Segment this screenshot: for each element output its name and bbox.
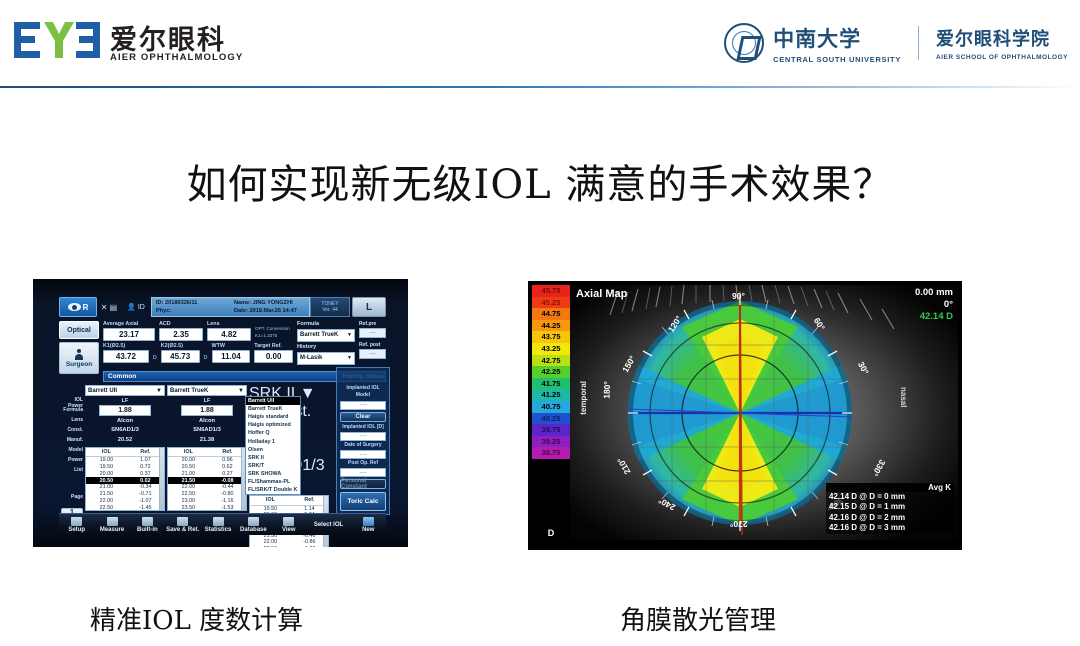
- field-acd[interactable]: ACD 2.35: [159, 321, 203, 341]
- column1-formula-select[interactable]: Barrett UII ▼: [85, 385, 165, 396]
- dropdown-option[interactable]: FL/Shammas-PL: [246, 478, 300, 486]
- ref-post-value[interactable]: ---: [359, 349, 386, 359]
- patient-phyc: Phyc:: [156, 307, 234, 315]
- formula-select[interactable]: Barrett TrueK ▼: [297, 329, 355, 342]
- toolbar-label: Measure: [100, 527, 124, 533]
- scale-step: 39.25: [532, 436, 570, 448]
- column1-const-label: LF: [85, 396, 165, 404]
- close-patient-button[interactable]: ✕ ▤: [97, 297, 121, 317]
- nasal-label: nasal: [899, 387, 908, 407]
- personal-constant-button[interactable]: Personal Constant: [340, 479, 386, 489]
- csu-text-block: 中南大学 CENTRAL SOUTH UNIVERSITY: [773, 23, 901, 64]
- scale-step: 44.75: [532, 308, 570, 320]
- history-label: History: [297, 344, 355, 352]
- csu-name-en: CENTRAL SOUTH UNIVERSITY: [773, 55, 901, 64]
- dropdown-option[interactable]: Barrett TrueK: [246, 405, 300, 413]
- opt-conversion-info: OPT. Conversion K1=1.3375: [255, 326, 290, 340]
- chevron-down-icon: ▼: [156, 388, 162, 394]
- dropdown-option[interactable]: Haigis optimized: [246, 421, 300, 429]
- field-value: 0.00: [254, 350, 293, 363]
- dropdown-option[interactable]: Haigis standard: [246, 413, 300, 421]
- surgeon-icon: [75, 349, 83, 360]
- eye-side-button[interactable]: R: [59, 297, 97, 317]
- biometry-row-2: K1(Ø2.5) 43.72 D K2(Ø2.5) 45.73 D WTW 11…: [103, 343, 293, 363]
- patient-bar: R ✕ ▤ 👤 ID ID: 20180326/11 Name: JING YO…: [59, 297, 386, 317]
- toolbar-label: Setup: [68, 527, 85, 533]
- column2-iol-table[interactable]: IOL Ref. 20.000.96 20.500.62 21.000.27 2…: [167, 447, 247, 511]
- patient-row-date: Phyc: Date: 2018.Mar.26 14:47: [156, 307, 305, 315]
- scale-step: 38.75: [532, 447, 570, 459]
- table-row[interactable]: 19.001.07: [86, 457, 164, 464]
- toolbar-label: Statistics: [205, 527, 232, 533]
- toolbar-label: Database: [240, 527, 267, 533]
- surgeon-button[interactable]: Surgeon: [59, 342, 99, 374]
- toolbar-new-button[interactable]: New: [351, 514, 386, 535]
- column2-model: SN6AD1/3: [167, 426, 247, 435]
- toolbar-statistics-button[interactable]: Statistics: [200, 514, 235, 535]
- surgery-date-value[interactable]: ----: [340, 450, 386, 459]
- postop-ref-label: Post Op. Ref: [340, 460, 386, 467]
- corneal-topography-screenshot: 45.75 45.25 44.75 44.25 43.75 43.25 42.7…: [528, 281, 962, 550]
- label-list: List: [59, 468, 83, 478]
- table-row-selected[interactable]: 20.500.02: [86, 477, 164, 484]
- iol-column-1: Barrett UII ▼ LF 1.88 Alcon SN6AD1/3 20.…: [85, 385, 165, 507]
- csu-seal-icon: [724, 23, 764, 63]
- ref-group: Ref.pre --- Ref. post ---: [359, 321, 386, 363]
- eye-diagram-button[interactable]: L: [352, 297, 386, 317]
- field-target-ref[interactable]: Target Ref. 0.00: [254, 343, 293, 363]
- implanted-power-label: Implanted IOL [D]: [340, 424, 386, 431]
- ref-pre-label: Ref.pre: [359, 321, 386, 328]
- column1-const-value[interactable]: 1.88: [99, 405, 151, 416]
- toolbar-measure-button[interactable]: Measure: [94, 514, 129, 535]
- chevron-down-icon: ▼: [347, 332, 352, 338]
- toolbar-builtin-button[interactable]: Built-in: [130, 514, 165, 535]
- chevron-down-icon: ▼: [347, 355, 352, 361]
- cursor-readout: 0.00 mm 0° 42.14 D: [915, 287, 953, 323]
- optical-mode-button[interactable]: Optical: [59, 321, 99, 339]
- field-average-axial[interactable]: Average Axial 23.17: [103, 321, 155, 341]
- scrollbar[interactable]: [159, 448, 164, 510]
- field-label: K1(Ø2.5): [103, 343, 149, 350]
- temporal-label: temporal: [579, 381, 588, 415]
- table-row[interactable]: 22.50-1.45: [86, 504, 164, 511]
- column2-formula-select[interactable]: Barrett TrueK ▼: [167, 385, 247, 396]
- scale-step: 40.25: [532, 413, 570, 425]
- ref-post-label: Ref. post: [359, 342, 386, 349]
- avg-k-row: 42.14 D @ D = 0 mm: [826, 492, 954, 503]
- scale-step: 43.25: [532, 343, 570, 355]
- eye-side-label: R: [83, 303, 89, 312]
- dropdown-option[interactable]: FL/SRK/T Double K: [246, 486, 300, 494]
- field-label: Average Axial: [103, 321, 155, 328]
- toolbar-label: View: [282, 527, 296, 533]
- toolbar-save-return-button[interactable]: Save & Ret.: [165, 514, 200, 535]
- header-divider-rule: [0, 86, 1080, 88]
- field-k2[interactable]: K2(Ø2.5) 45.73: [161, 343, 200, 363]
- ref-pre-value[interactable]: ---: [359, 328, 386, 338]
- scale-step: 41.75: [532, 378, 570, 390]
- csu-school-block: 爱尔眼科学院 AIER SCHOOL OF OPHTHALMOLOGY: [936, 25, 1068, 61]
- field-label: WTW: [212, 343, 251, 350]
- scale-step: 43.75: [532, 331, 570, 343]
- avg-k-row: 42.16 D @ D = 2 mm: [826, 513, 954, 524]
- patient-id: ID: 20180326/11: [156, 299, 234, 307]
- axial-map-canvas[interactable]: Axial Map 0.00 mm 0° 42.14 D temporal na…: [570, 285, 958, 540]
- person-icon: 👤: [127, 303, 136, 311]
- avg-k-row: 42.16 D @ D = 3 mm: [826, 523, 954, 534]
- topography-app: 45.75 45.25 44.75 44.25 43.75 43.25 42.7…: [528, 281, 962, 550]
- table-row[interactable]: 22.00-0.86: [250, 539, 328, 546]
- chevron-down-icon: ▼: [300, 385, 316, 402]
- aier-logo: 爱尔眼科 AIER OPHTHALMOLOGY: [14, 18, 264, 70]
- field-value: 2.35: [159, 328, 203, 341]
- field-value: 43.72: [103, 350, 149, 363]
- axis-label-90: 90°: [732, 291, 745, 301]
- scale-step: 44.25: [532, 320, 570, 332]
- patient-id-button[interactable]: 👤 ID: [121, 297, 151, 317]
- toolbar-label: Select IOL: [314, 522, 343, 528]
- view-icon: [283, 517, 294, 526]
- patient-name: Name: JING YONGZHI: [234, 299, 305, 307]
- avg-k-row: 42.15 D @ D = 1 mm: [826, 502, 954, 513]
- dropdown-option[interactable]: Hoffer Q: [246, 429, 300, 437]
- setup-icon: [71, 517, 82, 526]
- table-row[interactable]: 22.50-0.80: [168, 491, 246, 498]
- dropdown-option[interactable]: SRK/T: [246, 462, 300, 470]
- mode-rail: Optical Surgeon: [59, 321, 99, 374]
- field-value: 23.17: [103, 328, 155, 341]
- table-row[interactable]: 21.00-0.34: [86, 484, 164, 491]
- axial-map-title: Axial Map: [576, 288, 627, 300]
- iol-column-2: Barrett TrueK ▼ LF 1.88 Alcon SN6AD1/3 2…: [167, 385, 247, 507]
- printer-icon: [142, 517, 153, 526]
- statistics-icon: [213, 517, 224, 526]
- column1-iol-table[interactable]: IOL Ref. 19.001.07 19.500.72 20.000.37 2…: [85, 447, 165, 511]
- column2-power: 21.38: [167, 436, 247, 445]
- patient-info-panel: ID: 20180326/11 Name: JING YONGZHI Phyc:…: [151, 297, 310, 317]
- table-row[interactable]: 20.500.62: [168, 464, 246, 471]
- cursor-distance: 0.00 mm: [915, 287, 953, 299]
- implanted-model-value[interactable]: ----: [340, 401, 386, 410]
- field-label: K2(Ø2.5): [161, 343, 200, 350]
- chevron-down-icon: ▼: [238, 388, 244, 394]
- aier-logo-en: AIER OPHTHALMOLOGY: [110, 52, 243, 63]
- field-lens[interactable]: Lens 4.82: [207, 321, 251, 341]
- bottom-toolbar: Setup Measure Built-in Save & Ret. Stati…: [59, 513, 386, 535]
- toolbar-setup-button[interactable]: Setup: [59, 514, 94, 535]
- column2-formula-value: Barrett TrueK: [170, 388, 208, 394]
- toolbar-view-button[interactable]: View: [271, 514, 306, 535]
- caption-left: 精准IOL 度数计算: [90, 600, 303, 637]
- slide-header: 爱尔眼科 AIER OPHTHALMOLOGY 中南大学 CENTRAL SOU…: [0, 0, 1080, 88]
- logo-divider: [918, 26, 919, 60]
- toolbar-database-button[interactable]: Database: [236, 514, 271, 535]
- table-row[interactable]: 19.501.14: [250, 505, 328, 512]
- patient-row-id: ID: 20180326/11 Name: JING YONGZHI: [156, 299, 305, 307]
- table-row[interactable]: 21.50-0.71: [86, 491, 164, 498]
- dropdown-option[interactable]: SRK SHOWA: [246, 470, 300, 478]
- th-iol: IOL: [250, 496, 291, 505]
- row-label-column: IOL Power Formula Lens Const. Manuf. Mod…: [59, 385, 85, 507]
- avg-k-header: Avg K: [826, 483, 954, 492]
- scale-step: 40.75: [532, 401, 570, 413]
- toric-calc-button[interactable]: Toric Calc: [340, 492, 386, 511]
- table-row[interactable]: 22.50-1.26: [250, 546, 328, 547]
- implanted-model-label: Implanted IOL Model: [340, 385, 386, 400]
- implanted-power-value[interactable]: ----: [340, 432, 386, 441]
- column1-formula-value: Barrett UII: [88, 388, 117, 394]
- version-number: Ver. 44: [322, 307, 338, 313]
- biometry-fields: Average Axial 23.17 ACD 2.35 Lens 4.82 O…: [103, 321, 293, 365]
- table-row[interactable]: 23.50-1.53: [168, 504, 246, 511]
- cursor-angle: 0°: [915, 299, 953, 311]
- version-box: TONEY Ver. 44: [310, 297, 350, 317]
- column1-model: SN6AD1/3: [85, 426, 165, 435]
- field-label: ACD: [159, 321, 203, 328]
- clear-button[interactable]: Clear: [340, 412, 386, 422]
- patient-date: Date: 2018.Mar.26 14:47: [234, 307, 305, 315]
- dropdown-option[interactable]: Barrett UII: [246, 397, 300, 405]
- field-wtw[interactable]: WTW 11.04: [212, 343, 251, 363]
- surgery-date-label: Date of Surgery: [340, 442, 386, 449]
- table-row[interactable]: 20.000.37: [86, 470, 164, 477]
- csu-school-cn: 爱尔眼科学院: [936, 25, 1068, 51]
- toolbar-label: Built-in: [137, 527, 158, 533]
- eye-logo-mark: [14, 20, 100, 60]
- iol-calculator-app: R ✕ ▤ 👤 ID ID: 20180326/11 Name: JING YO…: [33, 279, 408, 547]
- field-label: Lens: [207, 321, 251, 328]
- formula-dropdown-list[interactable]: Barrett UII Barrett TrueK Haigis standar…: [245, 396, 301, 495]
- formula-value: Barrett TrueK: [300, 332, 338, 338]
- toolbar-label: New: [362, 527, 374, 533]
- avg-k-readout: Avg K 42.14 D @ D = 0 mm 42.15 D @ D = 1…: [826, 483, 954, 534]
- page-title: 如何实现新无级IOL 满意的手术效果？: [0, 152, 1080, 210]
- eye-icon: [68, 303, 81, 311]
- k1-unit: D: [153, 355, 157, 361]
- id-label: ID: [138, 304, 145, 311]
- postop-ref-value[interactable]: ----: [340, 468, 386, 477]
- th-iol: IOL: [86, 448, 127, 457]
- table-row-selected[interactable]: 21.50-0.08: [168, 477, 246, 484]
- column1-power: 20.52: [85, 436, 165, 445]
- axis-label-180: 180°: [601, 381, 612, 399]
- csu-school-en: AIER SCHOOL OF OPHTHALMOLOGY: [936, 54, 1068, 61]
- field-value: 11.04: [212, 350, 251, 363]
- table-row[interactable]: 20.000.96: [168, 457, 246, 464]
- save-icon: [177, 517, 188, 526]
- surgeon-label: Surgeon: [66, 361, 92, 368]
- history-value: M-Lasik: [300, 355, 322, 361]
- csu-name-cn: 中南大学: [773, 23, 901, 53]
- scale-step: 45.75: [532, 285, 570, 297]
- database-icon: [248, 517, 259, 526]
- page-label: Page: [59, 495, 83, 505]
- dropdown-option[interactable]: SRK II: [246, 454, 300, 462]
- toolbar-select-iol-button[interactable]: Select IOL: [306, 514, 350, 535]
- postop-panel: Implanted IOL Model ---- Clear Implanted…: [340, 385, 386, 511]
- table-row[interactable]: 23.00-1.16: [168, 498, 246, 505]
- scale-step: 42.75: [532, 355, 570, 367]
- table-row[interactable]: 21.000.27: [168, 470, 246, 477]
- toric-calc-label: Toric Calc: [348, 498, 379, 505]
- table-row[interactable]: 22.00-0.44: [168, 484, 246, 491]
- k2-unit: D: [204, 355, 208, 361]
- toolbar-label: Save & Ret.: [166, 527, 199, 533]
- th-iol: IOL: [168, 448, 209, 457]
- table-row[interactable]: 19.500.72: [86, 464, 164, 471]
- scale-step: 39.75: [532, 424, 570, 436]
- formula-label: Formula: [297, 321, 355, 329]
- column1-manuf: Alcon: [85, 417, 165, 426]
- history-select[interactable]: M-Lasik ▼: [297, 352, 355, 365]
- formula-history-group: Formula Barrett TrueK ▼ History M-Lasik …: [297, 321, 355, 367]
- dropdown-option[interactable]: Holladay 1: [246, 437, 300, 445]
- field-label: Target Ref.: [254, 343, 293, 350]
- measure-icon: [107, 517, 118, 526]
- column2-const-value[interactable]: 1.88: [181, 405, 233, 416]
- iol-calculator-screenshot: R ✕ ▤ 👤 ID ID: 20180326/11 Name: JING YO…: [33, 279, 408, 547]
- table-row[interactable]: 22.00-1.07: [86, 498, 164, 505]
- scale-step: 42.25: [532, 366, 570, 378]
- dropdown-option[interactable]: Olsen: [246, 446, 300, 454]
- scale-step: 41.25: [532, 389, 570, 401]
- column2-manuf: Alcon: [167, 417, 247, 426]
- diopter-unit-label: D: [532, 526, 570, 540]
- cursor-power: 42.14 D: [915, 311, 953, 323]
- caption-right: 角膜散光管理: [620, 600, 776, 637]
- field-value: 45.73: [161, 350, 200, 363]
- column2-const-label: LF: [167, 396, 247, 404]
- field-value: 4.82: [207, 328, 251, 341]
- csu-logo: 中南大学 CENTRAL SOUTH UNIVERSITY 爱尔眼科学院 AIE…: [724, 16, 1068, 70]
- scale-step: 45.25: [532, 297, 570, 309]
- diopter-color-scale: 45.75 45.25 44.75 44.25 43.75 43.25 42.7…: [532, 285, 570, 540]
- axis-label-270: 270°: [730, 519, 748, 529]
- new-icon: [363, 517, 374, 526]
- biometry-row-1: Average Axial 23.17 ACD 2.35 Lens 4.82 O…: [103, 321, 293, 341]
- field-k1[interactable]: K1(Ø2.5) 43.72: [103, 343, 149, 363]
